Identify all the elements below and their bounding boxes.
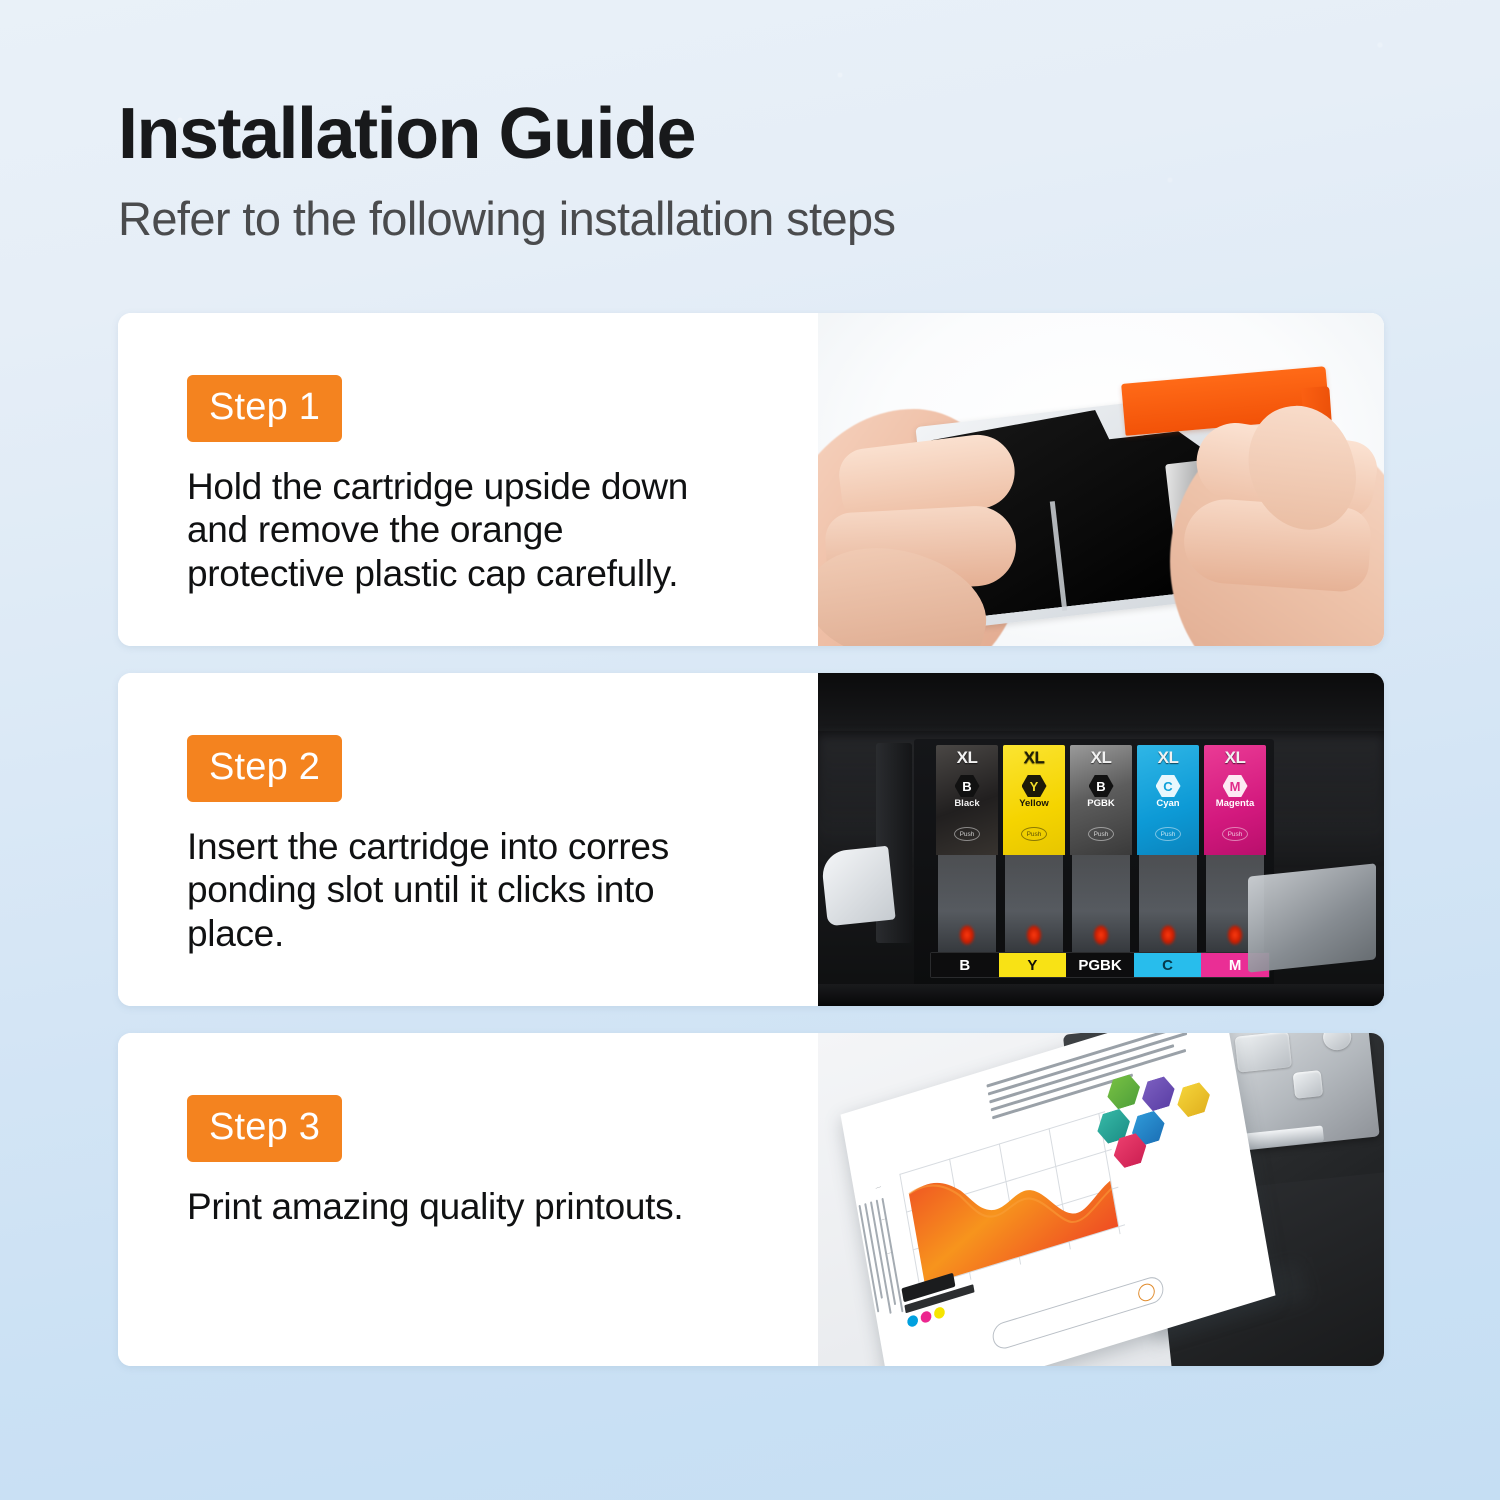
- push-button[interactable]: Push: [1021, 827, 1047, 841]
- step-2-text-panel: Step 2 Insert the cartridge into corres …: [118, 673, 818, 1006]
- color-hex-icon: B: [1089, 775, 1114, 797]
- xl-badge: XL: [1091, 749, 1112, 766]
- header: Installation Guide Refer to the followin…: [118, 98, 1388, 243]
- push-button[interactable]: Push: [1088, 827, 1114, 841]
- step-2-description: Insert the cartridge into corres ponding…: [187, 825, 787, 955]
- step-2-badge: Step 2: [187, 735, 342, 802]
- cartridge-name: PGBK: [1087, 799, 1114, 809]
- printer-lid-shadow: [818, 673, 1384, 731]
- push-button[interactable]: Push: [1155, 827, 1181, 841]
- status-led: [960, 925, 975, 945]
- step-card-3: Step 3 Print amazing quality printouts.: [118, 1033, 1384, 1366]
- cartridge-slot-yellow: XL Y Yellow Push: [1003, 745, 1065, 957]
- status-led: [1094, 925, 1109, 945]
- step-card-1: Step 1 Hold the cartridge upside down an…: [118, 313, 1384, 646]
- printed-side-paragraph: [840, 1198, 904, 1343]
- xl-badge: XL: [1225, 749, 1246, 766]
- page-subtitle: Refer to the following installation step…: [118, 194, 1388, 243]
- xl-badge: XL: [957, 749, 978, 766]
- slot-legend-y: Y: [999, 953, 1067, 977]
- step-3-description: Print amazing quality printouts.: [187, 1185, 787, 1228]
- cartridge-name: Black: [954, 799, 979, 809]
- slot-legend-b: B: [931, 953, 999, 977]
- printer-base-shadow: [818, 984, 1384, 1006]
- color-hex-icon: C: [1156, 775, 1181, 797]
- color-hex-icon: Y: [1022, 775, 1047, 797]
- hexagon-purple: [1139, 1074, 1177, 1114]
- color-hex-icon: B: [955, 775, 980, 797]
- cartridge-name: Yellow: [1019, 799, 1049, 809]
- cartridge-name: Cyan: [1156, 799, 1179, 809]
- photo-printer-carriage: XL B Black Push XL Y: [818, 673, 1384, 1006]
- cartridge-slots: XL B Black Push XL Y: [936, 745, 1266, 957]
- status-led: [1161, 925, 1176, 945]
- photo-printed-output: –– –– ––: [818, 1033, 1384, 1366]
- panel-button-secondary[interactable]: [1293, 1070, 1324, 1099]
- power-button-icon[interactable]: [1322, 1033, 1353, 1052]
- printed-pill-indicator: [1137, 1282, 1156, 1304]
- installation-guide-page: Installation Guide Refer to the followin…: [0, 0, 1500, 1500]
- step-2-image: XL B Black Push XL Y: [818, 673, 1384, 1006]
- logo-dot-cyan: [906, 1314, 918, 1328]
- steps-list: Step 1 Hold the cartridge upside down an…: [118, 313, 1384, 1393]
- push-button[interactable]: Push: [1222, 827, 1248, 841]
- step-1-text-panel: Step 1 Hold the cartridge upside down an…: [118, 313, 818, 646]
- step-1-badge: Step 1: [187, 375, 342, 442]
- hexagon-yellow: [1175, 1080, 1213, 1120]
- step-3-badge: Step 3: [187, 1095, 342, 1162]
- status-led: [1027, 925, 1042, 945]
- push-button[interactable]: Push: [954, 827, 980, 841]
- xl-badge: XL: [1024, 749, 1045, 766]
- color-hex-icon: M: [1223, 775, 1248, 797]
- status-led: [1228, 925, 1243, 945]
- step-3-image: –– –– ––: [818, 1033, 1384, 1366]
- slot-color-legend-strip: B Y PGBK C M: [930, 952, 1270, 978]
- cartridge-name: Magenta: [1216, 799, 1255, 809]
- cartridge-slot-pgbk: XL B PGBK Push: [1070, 745, 1132, 957]
- logo-dot-magenta: [920, 1310, 932, 1324]
- photo-cartridge-cap-removal: [818, 313, 1384, 646]
- cartridge-slot-cyan: XL C Cyan Push: [1137, 745, 1199, 957]
- step-1-description: Hold the cartridge upside down and remov…: [187, 465, 787, 595]
- page-title: Installation Guide: [118, 98, 1388, 170]
- logo-dot-yellow: [933, 1306, 945, 1320]
- printed-area-chart: –– –– ––: [899, 1111, 1126, 1295]
- xl-badge: XL: [1158, 749, 1179, 766]
- printer-left-panel: [820, 846, 895, 927]
- chart-ytick-top: ––: [875, 1184, 881, 1192]
- panel-navigation-pad[interactable]: [1235, 1033, 1292, 1073]
- step-3-text-panel: Step 3 Print amazing quality printouts.: [118, 1033, 818, 1366]
- step-card-2: Step 2 Insert the cartridge into corres …: [118, 673, 1384, 1006]
- printed-progress-pill: [991, 1274, 1166, 1352]
- slot-legend-pgbk: PGBK: [1066, 953, 1134, 977]
- cartridge-slot-black: XL B Black Push: [936, 745, 998, 957]
- slot-legend-c: C: [1134, 953, 1202, 977]
- step-1-image: [818, 313, 1384, 646]
- printer-right-mechanism: [1248, 863, 1376, 972]
